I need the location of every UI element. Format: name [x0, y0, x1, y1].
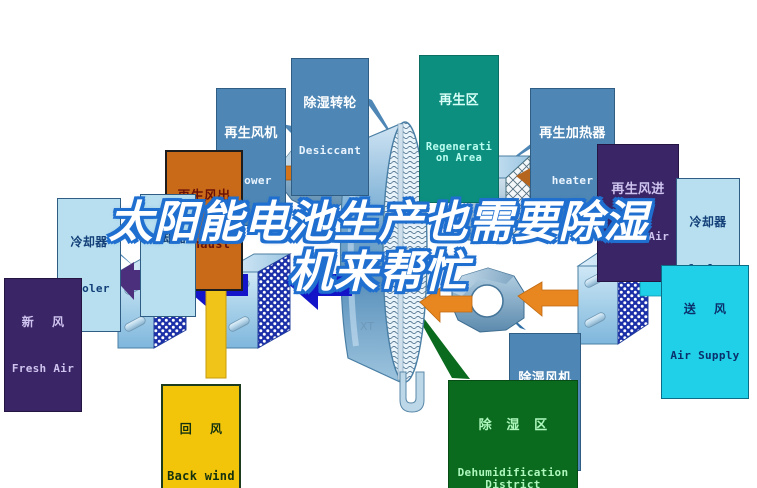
label-desiccant-wheel-cn: 除湿转轮	[296, 97, 364, 111]
condensate-drain	[400, 372, 424, 412]
label-cooler-middle-cn: 冷却器	[145, 232, 191, 245]
label-dehumidification-district: 除 湿 区 Dehumidification District	[448, 380, 578, 488]
label-air-supply-cn: 送 风	[666, 303, 744, 316]
label-regeneration-fresh-air: 再生风进 Fresh Air	[597, 144, 679, 282]
label-regeneration-area-cn: 再生区	[424, 94, 494, 108]
label-regeneration-fresh-air-en: Fresh Air	[602, 231, 674, 243]
label-desiccant-wheel: 除湿转轮 Desiccant	[291, 58, 369, 196]
label-regeneration-heater-cn: 再生加热器	[535, 127, 610, 141]
label-regeneration-area: 再生区 Regenerati on Area	[419, 55, 499, 203]
label-fresh-air-en: Fresh Air	[9, 363, 77, 375]
label-cooler-left-cn: 冷却器	[62, 236, 116, 249]
label-cooler-right-cn: 冷却器	[681, 216, 735, 229]
label-fresh-air: 新 风 Fresh Air	[4, 278, 82, 412]
arrow-dry-air-2	[518, 282, 578, 316]
label-back-wind-en: Back wind	[167, 470, 235, 483]
label-fresh-air-cn: 新 风	[9, 316, 77, 329]
label-dehumidification-district-en: Dehumidification District	[453, 467, 573, 488]
label-desiccant-wheel-en: Desiccant	[296, 145, 364, 157]
svg-text:XT: XT	[360, 320, 374, 333]
label-back-wind: 回 风 Back wind	[161, 384, 241, 488]
label-dehumidification-district-cn: 除 湿 区	[453, 419, 573, 433]
diagram-canvas: XT	[0, 0, 757, 488]
label-regeneration-fresh-air-cn: 再生风进	[602, 183, 674, 197]
label-regeneration-area-en: Regenerati on Area	[424, 142, 494, 165]
label-air-supply-en: Air Supply	[666, 350, 744, 362]
label-back-wind-cn: 回 风	[167, 423, 235, 436]
label-air-supply: 送 风 Air Supply	[661, 265, 749, 399]
label-regeneration-blower-cn: 再生风机	[221, 127, 281, 141]
label-cooler-middle: 冷却器	[140, 194, 196, 317]
